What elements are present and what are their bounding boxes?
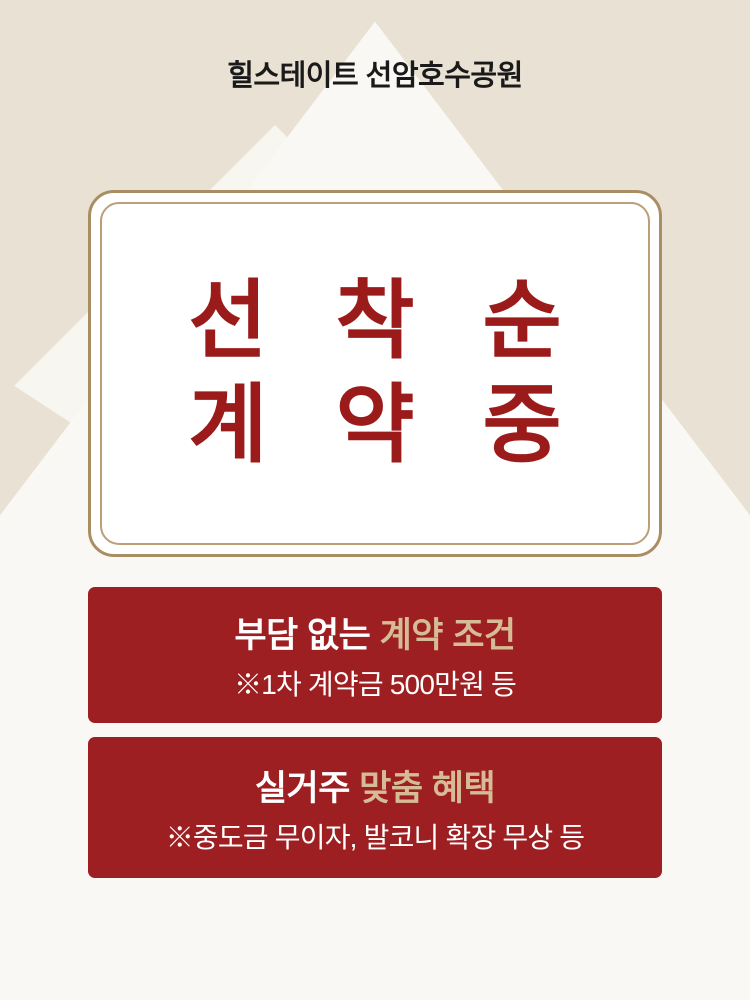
benefit-banner-title: 부담 없는 계약 조건 xyxy=(234,607,515,658)
promo-poster: 힐스테이트 선암호수공원 선 착 순 계 약 중 부담 없는 계약 조건 ※1차… xyxy=(0,0,750,1000)
status-line-first-come: 선 착 순 xyxy=(166,272,583,372)
project-title: 힐스테이트 선암호수공원 xyxy=(0,52,750,94)
benefit-banner-note: ※1차 계약금 500만원 등 xyxy=(234,663,516,703)
status-card: 선 착 순 계 약 중 xyxy=(88,190,662,557)
benefit-banner-note: ※중도금 무이자, 발코니 확장 무상 등 xyxy=(166,816,585,856)
benefit-title-plain: 부담 없는 xyxy=(234,616,370,655)
benefit-title-accent: 계약 조건 xyxy=(380,616,516,655)
benefit-banner-resident-perks: 실거주 맞춤 혜택 ※중도금 무이자, 발코니 확장 무상 등 xyxy=(88,737,662,878)
benefit-title-accent: 맞춤 혜택 xyxy=(359,769,495,808)
status-line-contracting: 계 약 중 xyxy=(166,376,583,476)
benefit-banner-title: 실거주 맞춤 혜택 xyxy=(255,760,495,811)
benefit-title-plain: 실거주 xyxy=(255,769,350,808)
status-card-inner: 선 착 순 계 약 중 xyxy=(100,202,650,545)
benefit-banner-contract-terms: 부담 없는 계약 조건 ※1차 계약금 500만원 등 xyxy=(88,587,662,723)
